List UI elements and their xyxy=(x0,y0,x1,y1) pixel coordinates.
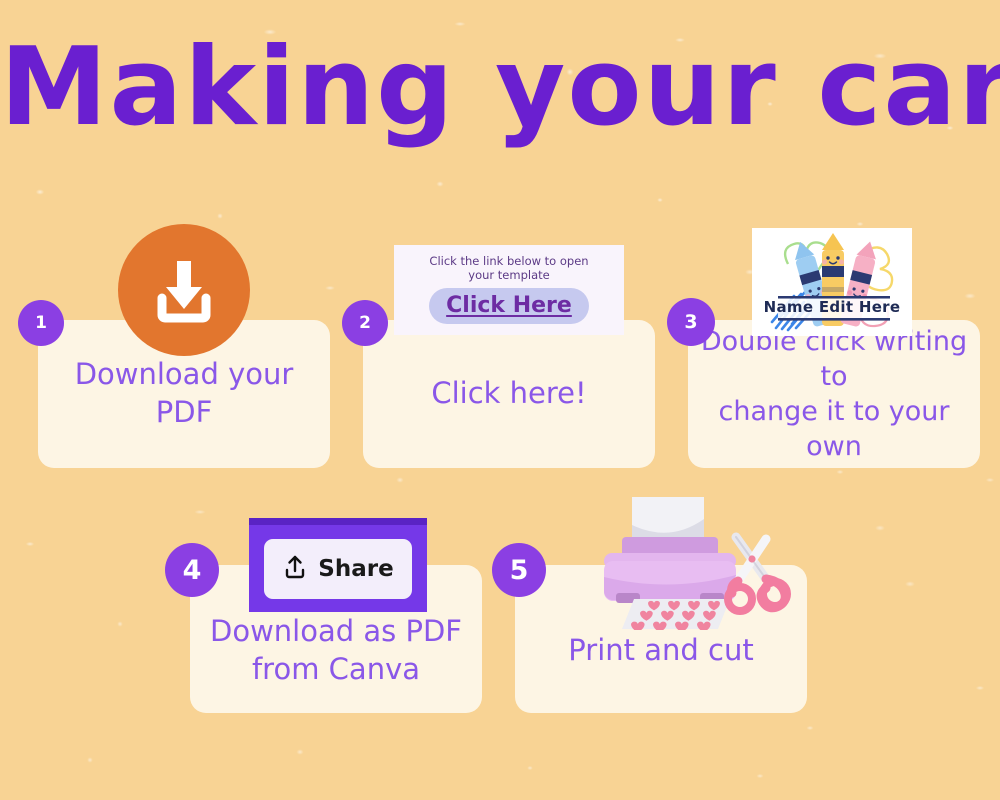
crayons-screenshot: Name Edit Here xyxy=(752,228,912,336)
step-2-caption: Click here! xyxy=(373,375,645,413)
page-title: Making your card xyxy=(0,24,1000,151)
click-here-button[interactable]: Click Here xyxy=(429,288,589,324)
step-badge-4: 4 xyxy=(165,543,219,597)
canva-link-screenshot: Click the link below to open your templa… xyxy=(394,245,624,335)
step-4-caption: Download as PDF from Canva xyxy=(200,613,472,688)
step-1-caption: Download your PDF xyxy=(48,356,320,431)
share-button-label: Share xyxy=(318,556,393,582)
step-badge-3-number: 3 xyxy=(684,311,697,333)
link-screenshot-body: Click the link below to open your templa… xyxy=(394,245,624,335)
crayons-illustration xyxy=(752,228,912,336)
printer-illustration-wrapper xyxy=(570,495,800,634)
step-badge-4-number: 4 xyxy=(183,555,202,586)
step-card-2: Click here! xyxy=(363,320,655,468)
step-badge-3: 3 xyxy=(667,298,715,346)
step-badge-5: 5 xyxy=(492,543,546,597)
step-card-3: Double click writing to change it to you… xyxy=(688,320,980,468)
step-3-caption-line-2: change it to your own xyxy=(718,396,949,462)
link-instruction: Click the link below to open your templa… xyxy=(394,254,624,283)
step-badge-2: 2 xyxy=(342,300,388,346)
step-3-caption: Double click writing to change it to you… xyxy=(698,324,970,464)
download-icon-wrapper xyxy=(118,224,250,356)
step-4-caption-line-1: Download as PDF xyxy=(210,614,462,648)
step-badge-2-number: 2 xyxy=(359,313,371,333)
step-4-caption-line-2: from Canva xyxy=(252,652,420,686)
share-upload-icon xyxy=(282,553,308,585)
nameplate-text: Name Edit Here xyxy=(752,298,912,316)
poster-canvas: Making your card Download your PDF 1 Cli… xyxy=(0,0,1000,800)
click-here-label: Click Here xyxy=(446,293,572,318)
printer-and-scissors-illustration xyxy=(570,495,800,630)
crayons-card: Name Edit Here xyxy=(752,228,912,336)
share-button[interactable]: Share xyxy=(264,539,412,599)
step-5-caption: Print and cut xyxy=(525,632,797,670)
download-icon xyxy=(118,224,250,356)
share-screenshot-frame: Share xyxy=(249,518,427,612)
share-button-screenshot: Share xyxy=(249,518,427,612)
step-badge-5-number: 5 xyxy=(510,555,529,586)
link-instruction-line-1: Click the link below to open xyxy=(429,254,588,268)
step-badge-1: 1 xyxy=(18,300,64,346)
link-instruction-line-2: your template xyxy=(468,268,549,282)
step-badge-1-number: 1 xyxy=(35,313,47,333)
scissors-icon xyxy=(728,537,787,611)
